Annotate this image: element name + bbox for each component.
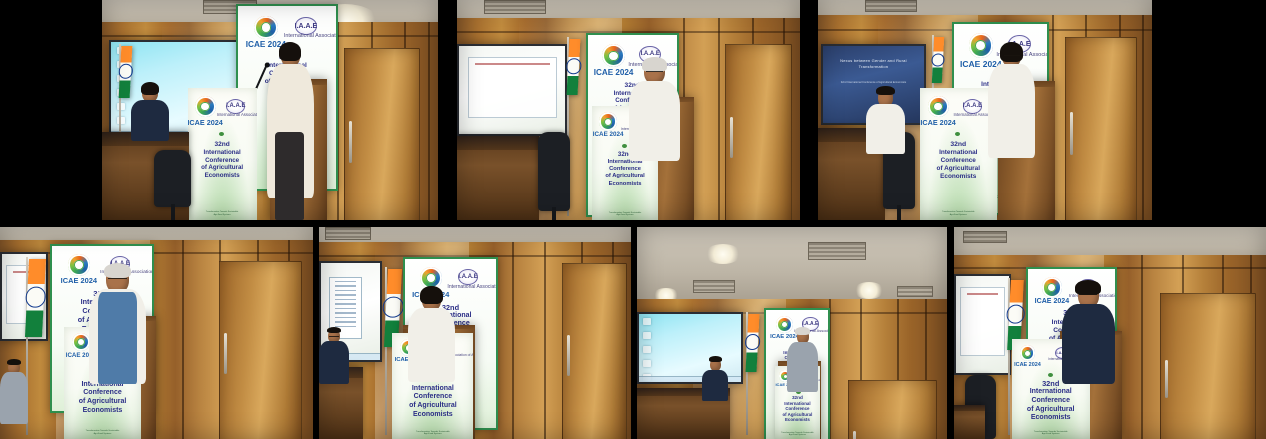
torso (131, 100, 170, 141)
tagline-line2: Agri-Food Systems (924, 214, 992, 217)
slide-title-line2: Transformation (833, 64, 913, 70)
ceiling-vent-0 (325, 227, 371, 240)
panel-1-scene: ICAE 2024I.A.A.EInternational Associatio… (102, 0, 438, 220)
icae-logo-mark (72, 333, 90, 351)
wooden-door-0[interactable] (848, 380, 937, 439)
hair (7, 359, 21, 365)
wooden-door-0[interactable] (1065, 37, 1137, 220)
hair (104, 263, 131, 278)
banner-line-line_conference: Conference (67, 389, 138, 398)
chair-stem (552, 207, 556, 220)
door-handle-0[interactable] (1070, 112, 1073, 155)
banner-line-line_economists: Economists (923, 173, 994, 181)
desktop-icon-1 (643, 332, 651, 339)
icae-logo-mark (1020, 345, 1036, 361)
seated-attendee (0, 361, 28, 425)
document-text-line-5 (335, 303, 356, 305)
door-handle-0[interactable] (853, 431, 856, 439)
podium-title: 32ndInternationalConferenceof Agricultur… (1015, 379, 1087, 423)
banner-line-line_conference: Conference (396, 393, 471, 402)
podium-decorative-dot (219, 132, 224, 136)
podium-tagline: Transformation Towards SustainableAgri-F… (778, 432, 818, 437)
wood-vertical-seam-0 (1141, 255, 1143, 439)
icae-logo-caption: ICAE 2024 (920, 118, 955, 127)
podium-tagline: Transformation Towards SustainableAgri-F… (69, 430, 136, 435)
icae-2024-logo: ICAE 2024 (72, 333, 90, 359)
desktop-icon-2 (643, 346, 651, 353)
slide-heading-bar (967, 293, 998, 295)
ceiling-vent-1 (693, 280, 735, 293)
icae-logo-mark (928, 96, 949, 117)
speaker-man-grey (787, 329, 818, 393)
speaker-woman-glasses (988, 44, 1035, 158)
document-text-line-1 (335, 285, 356, 287)
document-text-line-3 (335, 294, 356, 296)
hair (1075, 280, 1100, 295)
icae-2024-logo: ICAE 2024 (602, 44, 625, 78)
iaae-logo: I.A.A.EInternational Association of Agri… (458, 269, 477, 296)
panel-6: ICAE 2024I.A.A.EInternational Associatio… (637, 227, 947, 439)
icae-logo-mark (254, 16, 278, 40)
speaker-man-blue-vest (89, 265, 145, 384)
podium-tagline: Transformation Towards SustainableAgri-F… (1016, 431, 1085, 436)
podium-tagline: Transformation Towards SustainableAgri-F… (192, 211, 253, 216)
iaae-logo-caption: International Association of Agricultura… (953, 112, 989, 117)
ceiling-vent-0 (865, 0, 917, 12)
wood-vertical-seam-3 (1142, 15, 1144, 220)
eyeglasses (143, 93, 156, 96)
document-text-line-6 (335, 308, 356, 310)
podium-decorative-dot (622, 144, 627, 148)
iaae-logo: I.A.A.EInternational Association of Agri… (295, 17, 315, 45)
eyeglasses (1004, 55, 1020, 58)
office-chair[interactable] (154, 150, 191, 207)
hair (876, 86, 894, 95)
icae-2024-logo: ICAE 2024 (1042, 277, 1062, 306)
ashoka-chakra (1005, 305, 1025, 324)
banner-line-line_international: International (190, 149, 253, 157)
panel-7: ICAE 2024I.A.A.EInternational Associatio… (954, 227, 1266, 439)
slide-content-area (468, 57, 557, 119)
wood-vertical-seam-1 (544, 242, 546, 439)
ceiling-vent-0 (808, 242, 866, 260)
conference-desk (457, 136, 539, 220)
eyeglasses (108, 278, 127, 281)
iaae-logo-caption: International Association of Agricultura… (217, 112, 253, 117)
desk-surface (954, 405, 985, 410)
desk-surface (457, 136, 539, 149)
speaker-man-dark-suit (1062, 282, 1115, 384)
panel-5-scene: ICAE 2024I.A.A.EInternational Associatio… (319, 227, 631, 439)
torso (1062, 304, 1115, 383)
icae-logo-mark (68, 254, 89, 275)
wood-vertical-seam-0 (512, 242, 514, 439)
door-handle-0[interactable] (1165, 360, 1168, 398)
wooden-door-0[interactable] (344, 48, 420, 220)
tagline-line2: Agri-Food Systems (69, 433, 136, 436)
podium-front-banner: ICAE 2024I.A.A.EInternational Associatio… (920, 88, 997, 220)
slide-title: Nexus between Gender and RuralTransforma… (833, 58, 913, 70)
panel-2-scene: ICAE 2024I.A.A.EInternational Associatio… (457, 0, 800, 220)
banner-line-line_of_agricultural: of Agricultural (923, 165, 994, 173)
seated-man-navy (131, 84, 170, 141)
banner-line-line_economists: Economists (1015, 414, 1087, 423)
panel-2: ICAE 2024I.A.A.EInternational Associatio… (457, 0, 800, 220)
banner-line-line_conference: Conference (923, 157, 994, 165)
hair (1000, 42, 1022, 62)
banner-line-line_of_agricultural: of Agricultural (396, 402, 471, 411)
speaker-skirt (275, 132, 304, 220)
iaae-logo-mark: I.A.A.E (963, 99, 982, 114)
icae-2024-logo: ICAE 2024 (1020, 345, 1036, 368)
torso (702, 370, 728, 401)
banner-line-line_international: International (396, 385, 471, 394)
iaae-logo-mark: I.A.A.E (226, 99, 245, 114)
projector-screen (954, 274, 1011, 376)
torso (787, 342, 818, 393)
banner-line-line_of_agricultural: of Agricultural (67, 398, 138, 407)
banner-line-line_conference: Conference (1015, 397, 1087, 406)
tagline-line2: Agri-Food Systems (397, 433, 468, 436)
document-text-line-8 (335, 317, 356, 319)
desktop-icon-3 (643, 360, 651, 367)
document-text-line-4 (335, 299, 356, 301)
podium-decorative-dot (955, 132, 960, 136)
banner-line-line_conference: Conference (595, 166, 655, 173)
desktop-icons (643, 318, 666, 384)
icae-2024-logo: ICAE 2024 (68, 254, 89, 285)
chair-stem (171, 204, 175, 220)
panel-5: ICAE 2024I.A.A.EInternational Associatio… (319, 227, 631, 439)
document-text-line-9 (335, 321, 356, 323)
nehru-vest (98, 292, 136, 384)
banner-line-line_economists: Economists (190, 172, 253, 180)
panel-3: Nexus between Gender and RuralTransforma… (818, 0, 1152, 220)
torso (866, 104, 904, 154)
panel-4-scene: ICAE 2024I.A.A.EInternational Associatio… (0, 227, 313, 439)
hair (642, 57, 667, 72)
seated-man-white-shirt (866, 88, 904, 154)
iaae-logo-mark: I.A.A.E (295, 17, 317, 35)
projector-screen (457, 44, 567, 136)
iaae-logo: I.A.A.EInternational Association of Agri… (963, 99, 980, 123)
document-text-line-7 (335, 312, 356, 314)
eyeglasses (329, 336, 339, 339)
podium-tagline: Transformation Towards SustainableAgri-F… (397, 431, 468, 436)
podium-title: 32ndInternationalConferenceof Agricultur… (923, 141, 994, 181)
eyeglasses (1079, 294, 1097, 297)
indian-flag (25, 259, 46, 337)
icae-logo-caption: ICAE 2024 (593, 131, 624, 138)
door-handle-0[interactable] (349, 121, 352, 163)
eyeglasses (646, 71, 663, 74)
banner-line-line_international: International (923, 149, 994, 157)
hair (279, 42, 302, 61)
podium-title: 32ndInternationalConferenceof Agricultur… (777, 395, 818, 423)
panel-4: ICAE 2024I.A.A.EInternational Associatio… (0, 227, 313, 439)
wood-vertical-seam-0 (182, 240, 184, 439)
ashoka-chakra (24, 287, 46, 308)
ceiling-light-0 (705, 244, 741, 264)
banner-line-line_of_agricultural: of Agricultural (595, 173, 655, 180)
icae-logo-caption: ICAE 2024 (188, 118, 223, 127)
door-handle-0[interactable] (224, 333, 227, 374)
banner-line-ordinal: 32nd (923, 141, 994, 149)
panel-3-scene: Nexus between Gender and RuralTransforma… (818, 0, 1152, 220)
banner-line-line_of_agricultural: of Agricultural (1015, 406, 1087, 415)
podium-decorative-dot (1048, 373, 1053, 377)
wooden-door-0[interactable] (562, 263, 626, 439)
wood-vertical-seam-3 (428, 22, 430, 220)
photo-collage: ICAE 2024I.A.A.EInternational Associatio… (0, 0, 1266, 439)
iaae-logo-caption: International Association of Agricultura… (284, 33, 326, 40)
chair-stem (897, 205, 901, 220)
torso (629, 81, 680, 161)
speaker-man-lightshirt (629, 59, 680, 160)
wooden-door-0[interactable] (725, 44, 792, 220)
banner-line-line_conference: Conference (190, 157, 253, 165)
ceiling-vent-0 (963, 231, 1007, 243)
banner-line-line_economists: Economists (67, 407, 138, 416)
podium-title: 32ndInternationalConferenceof Agricultur… (396, 375, 471, 419)
tagline-line2: Agri-Food Systems (192, 214, 253, 217)
seated-man-dark-jacket (702, 358, 728, 400)
seated-man-dark-suit (319, 329, 349, 384)
icae-logo-mark (599, 112, 617, 130)
ceiling-vent-0 (484, 0, 546, 14)
icae-2024-logo: ICAE 2024 (928, 96, 949, 126)
wooden-door-0[interactable] (1160, 293, 1256, 439)
door-handle-0[interactable] (730, 117, 733, 159)
tagline-line2: Agri-Food Systems (1016, 433, 1085, 436)
icae-logo-mark (1042, 277, 1062, 297)
panel-1: ICAE 2024I.A.A.EInternational Associatio… (102, 0, 438, 220)
wood-vertical-seam-1 (718, 18, 720, 220)
icae-logo-mark (602, 44, 625, 67)
iaae-logo: I.A.A.EInternational Association of Agri… (226, 99, 243, 123)
conference-desk (954, 405, 985, 439)
hair (420, 286, 442, 304)
office-chair[interactable] (538, 132, 571, 211)
podium-tagline: Transformation Towards SustainableAgri-F… (596, 212, 653, 217)
slide-content-area (960, 287, 1005, 355)
slide-heading-bar (475, 63, 550, 65)
panel-6-scene: ICAE 2024I.A.A.EInternational Associatio… (637, 227, 947, 439)
ceiling-light-1 (854, 282, 884, 299)
tagline-line2: Agri-Food Systems (596, 214, 653, 217)
podium-front-banner: ICAE 2024I.A.A.EInternational Associatio… (188, 88, 257, 220)
icae-2024-logo: ICAE 2024 (599, 112, 617, 139)
icae-logo-caption: ICAE 2024 (594, 68, 634, 77)
desktop-icon-0 (643, 318, 651, 325)
tagline-line2: Agri-Food Systems (778, 434, 818, 437)
banner-line-line_international: International (1015, 388, 1087, 397)
banner-line-line_economists: Economists (777, 417, 818, 422)
hair (795, 327, 810, 335)
document-text-line-0 (335, 281, 356, 283)
banner-line-ordinal: 32nd (190, 141, 253, 149)
torso (408, 308, 455, 382)
panel-7-scene: ICAE 2024I.A.A.EInternational Associatio… (954, 227, 1266, 439)
banner-line-line_of_agricultural: of Agricultural (190, 164, 253, 172)
podium-tagline: Transformation Towards SustainableAgri-F… (924, 211, 992, 216)
banner-line-line_economists: Economists (595, 181, 655, 188)
ceiling-vent-2 (897, 286, 933, 297)
wooden-door-0[interactable] (219, 261, 302, 439)
icae-logo-mark (195, 96, 216, 117)
podium-title: 32ndInternationalConferenceof Agricultur… (190, 141, 253, 180)
hair (709, 356, 722, 362)
door-handle-0[interactable] (567, 335, 570, 376)
hair (327, 327, 341, 334)
document-text-line-2 (335, 290, 356, 292)
ceiling (637, 227, 947, 303)
icae-logo-caption: ICAE 2024 (1014, 362, 1041, 368)
torso (988, 64, 1035, 159)
banner-line-line_economists: Economists (396, 411, 471, 420)
speaker-woman-white-top (408, 288, 455, 381)
torso (0, 372, 28, 424)
icae-2024-logo: ICAE 2024 (195, 96, 216, 126)
torso (319, 341, 349, 384)
slide-subtitle: 32nd International Conference of Agricul… (837, 81, 909, 85)
